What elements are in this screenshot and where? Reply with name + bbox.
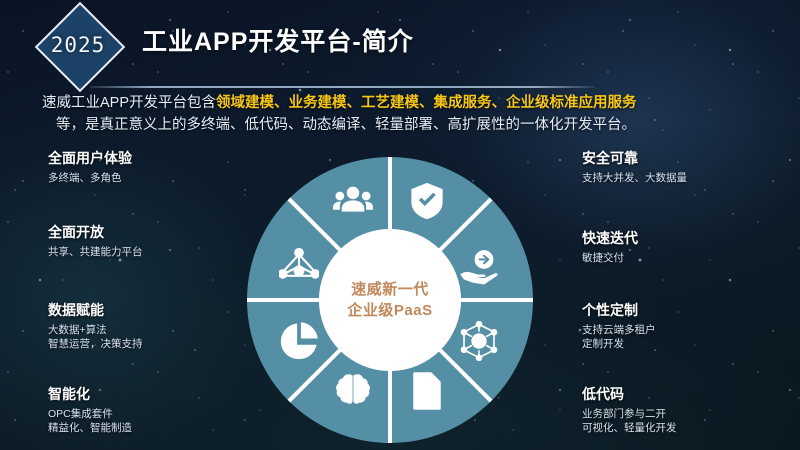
hub-molecule-icon — [279, 247, 319, 287]
feature-right-0: 安全可靠 支持大并发、大数据量 — [582, 148, 687, 185]
code-file-icon — [407, 371, 447, 411]
feature-sub: 敏捷交付 — [582, 251, 638, 265]
feature-sub: 业务部门参与二开 — [582, 407, 677, 421]
feature-right-1: 快速迭代 敏捷交付 — [582, 228, 638, 265]
feature-sub: OPC集成套件 — [48, 407, 132, 421]
feature-left-2: 数据赋能 大数据+算法 智慧运营，决策支持 — [48, 300, 143, 351]
brain-icon — [333, 371, 373, 411]
feature-title: 快速迭代 — [582, 228, 638, 248]
slide-root: 2025 工业APP开发平台-简介 速威工业APP开发平台包含领域建模、业务建模… — [0, 0, 800, 450]
feature-sub: 共享、共建能力平台 — [48, 245, 143, 259]
feature-title: 安全可靠 — [582, 148, 687, 168]
feature-title: 个性定制 — [582, 300, 656, 320]
hand-arrow-icon — [459, 247, 499, 287]
feature-title: 智能化 — [48, 384, 132, 404]
center-line-1: 速威新一代 — [351, 279, 429, 300]
year-badge-label: 2025 — [22, 6, 134, 84]
feature-title: 数据赋能 — [48, 300, 143, 320]
feature-left-1: 全面开放 共享、共建能力平台 — [48, 222, 143, 259]
page-title: 工业APP开发平台-简介 — [142, 22, 414, 58]
year-badge: 2025 — [22, 6, 134, 84]
feature-sub: 支持大并发、大数据量 — [582, 171, 687, 185]
feature-sub: 定制开发 — [582, 337, 656, 351]
center-line-2: 企业级PaaS — [347, 300, 432, 321]
feature-right-2: 个性定制 支持云端多租户 定制开发 — [582, 300, 656, 351]
feature-title: 低代码 — [582, 384, 677, 404]
feature-sub: 精益化、智能制造 — [48, 421, 132, 435]
shield-check-icon — [407, 181, 447, 221]
feature-title: 全面用户体验 — [48, 148, 132, 168]
feature-left-3: 智能化 OPC集成套件 精益化、智能制造 — [48, 384, 132, 435]
intro-paragraph: 速威工业APP开发平台包含领域建模、业务建模、工艺建模、集成服务、企业级标准应用… — [42, 92, 758, 136]
pie-chart-icon — [279, 321, 319, 361]
intro-line1-prefix: 速威工业APP开发平台包含 — [42, 95, 216, 111]
feature-title: 全面开放 — [48, 222, 143, 242]
users-group-icon — [333, 181, 373, 221]
globe-network-icon — [459, 321, 499, 361]
feature-sub: 支持云端多租户 — [582, 323, 656, 337]
feature-sub: 大数据+算法 — [48, 323, 143, 337]
intro-line2: 等，是真正意义上的多终端、低代码、动态编译、轻量部署、高扩展性的一体化开发平台。 — [42, 114, 758, 136]
feature-sub: 智慧运营，决策支持 — [48, 337, 143, 351]
wheel-center-label: 速威新一代 企业级PaaS — [319, 229, 461, 371]
feature-sub: 可视化、轻量化开发 — [582, 421, 677, 435]
paas-wheel-diagram: 速威新一代 企业级PaaS — [245, 155, 535, 445]
header-divider — [90, 86, 595, 88]
feature-left-0: 全面用户体验 多终端、多角色 — [48, 148, 132, 185]
feature-right-3: 低代码 业务部门参与二开 可视化、轻量化开发 — [582, 384, 677, 435]
intro-line1-highlight: 领域建模、业务建模、工艺建模、集成服务、企业级标准应用服务 — [216, 95, 637, 111]
feature-sub: 多终端、多角色 — [48, 171, 132, 185]
